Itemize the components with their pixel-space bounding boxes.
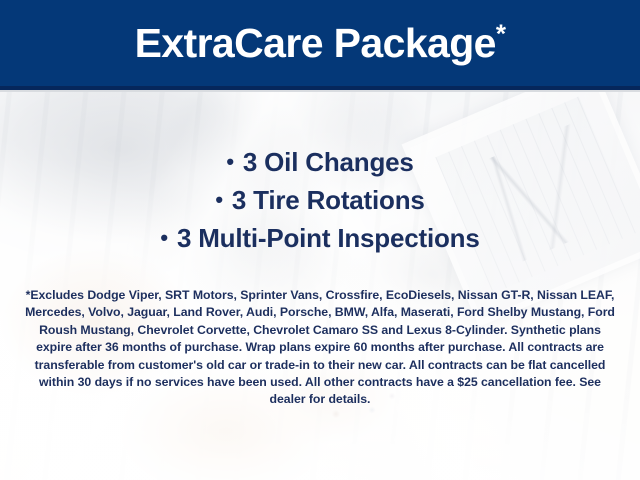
list-item: • 3 Oil Changes — [0, 143, 640, 181]
page-title-text: ExtraCare Package — [135, 20, 496, 66]
bullet-dot-icon: • — [215, 187, 225, 212]
list-item: • 3 Multi-Point Inspections — [0, 219, 640, 257]
header-bottom-rule-2 — [0, 90, 640, 92]
list-item: • 3 Tire Rotations — [0, 181, 640, 219]
page-title: ExtraCare Package* — [0, 18, 640, 68]
benefit-label: 3 Oil Changes — [243, 147, 414, 177]
bullet-dot-icon: • — [226, 149, 236, 174]
benefit-label: 3 Tire Rotations — [232, 185, 425, 215]
benefits-list: • 3 Oil Changes • 3 Tire Rotations • 3 M… — [0, 143, 640, 257]
bullet-dot-icon: • — [160, 225, 170, 250]
extracare-package-ad: ExtraCare Package* • 3 Oil Changes • 3 T… — [0, 0, 640, 480]
disclaimer-text: *Excludes Dodge Viper, SRT Motors, Sprin… — [24, 287, 616, 409]
page-title-asterisk: * — [496, 18, 506, 48]
benefit-label: 3 Multi-Point Inspections — [177, 223, 480, 253]
